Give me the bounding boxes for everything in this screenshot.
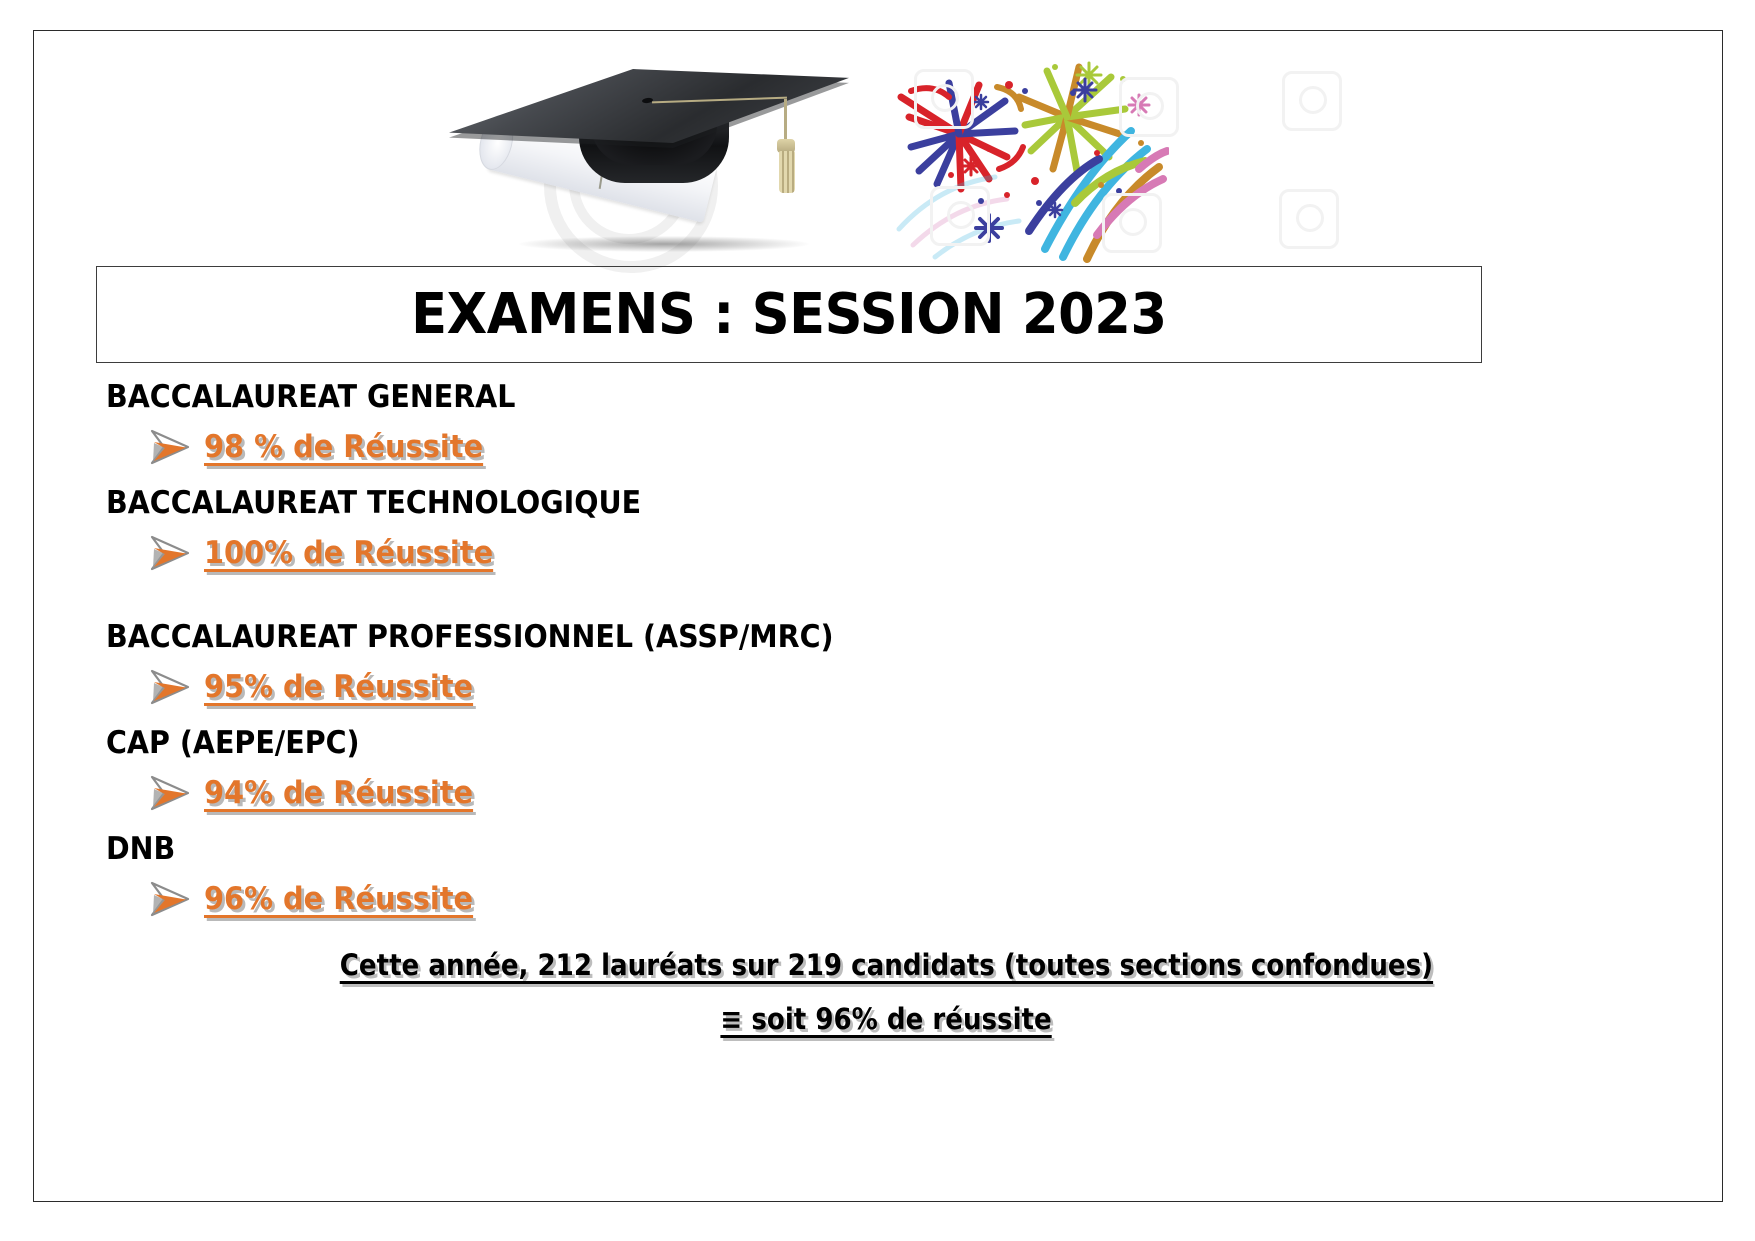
section-heading-bac-general: BACCALAUREAT GENERAL [106,376,1541,418]
title-box: EXAMENS : SESSION 2023 [96,266,1482,363]
summary-block: Cette année, 212 lauréats sur 219 candid… [106,938,1666,1046]
bullet-arrow-cell [106,428,204,466]
header-artwork [34,31,1722,263]
result-value-cap: 94% de Réussite [204,775,473,811]
watermark-stamp-icon [1119,77,1179,137]
watermark-stamp-icon [1102,193,1162,253]
result-row-bac-pro: 95% de Réussite [106,662,1666,712]
graduation-cap-icon [449,41,849,263]
result-value-bac-techno: 100% de Réussite [204,535,493,571]
cap-mortarboard [449,69,849,143]
watermark-stamp-icon [930,186,990,246]
arrow-bullet-icon [148,774,192,812]
result-row-cap: 94% de Réussite [106,768,1666,818]
result-row-dnb: 96% de Réussite [106,874,1666,924]
arrow-bullet-icon [148,428,192,466]
result-value-bac-pro: 95% de Réussite [204,669,473,705]
watermark-stamp-icon [914,69,974,129]
bullet-arrow-cell [106,774,204,812]
summary-line-1: Cette année, 212 lauréats sur 219 candid… [339,938,1432,992]
arrow-bullet-icon [148,534,192,572]
tassel-drop [784,99,787,143]
watermark-stamp-icon [1279,189,1339,249]
bullet-arrow-cell [106,880,204,918]
tassel-fringe [779,151,795,193]
document-page: EXAMENS : SESSION 2023 BACCALAUREAT GENE… [33,30,1723,1202]
bullet-arrow-cell [106,534,204,572]
section-heading-dnb: DNB [106,828,1541,870]
arrow-bullet-icon [148,668,192,706]
page-title: EXAMENS : SESSION 2023 [411,282,1167,347]
section-heading-cap: CAP (AEPE/EPC) [106,722,1541,764]
section-heading-bac-techno: BACCALAUREAT TECHNOLOGIQUE [106,482,1541,524]
section-heading-bac-pro: BACCALAUREAT PROFESSIONNEL (ASSP/MRC) [106,616,1541,658]
result-row-bac-techno: 100% de Réussite [106,528,1666,578]
results-list: BACCALAUREAT GENERAL 98 % de Réussite BA… [106,376,1666,1046]
result-value-bac-general: 98 % de Réussite [204,429,483,465]
result-row-bac-general: 98 % de Réussite [106,422,1666,472]
spacer [106,588,1666,616]
summary-line-2: ≡ soit 96% de réussite [720,992,1051,1046]
result-value-dnb: 96% de Réussite [204,881,473,917]
bullet-arrow-cell [106,668,204,706]
watermark-stamp-icon [1282,71,1342,131]
arrow-bullet-icon [148,880,192,918]
cap-drop-shadow [519,236,809,252]
